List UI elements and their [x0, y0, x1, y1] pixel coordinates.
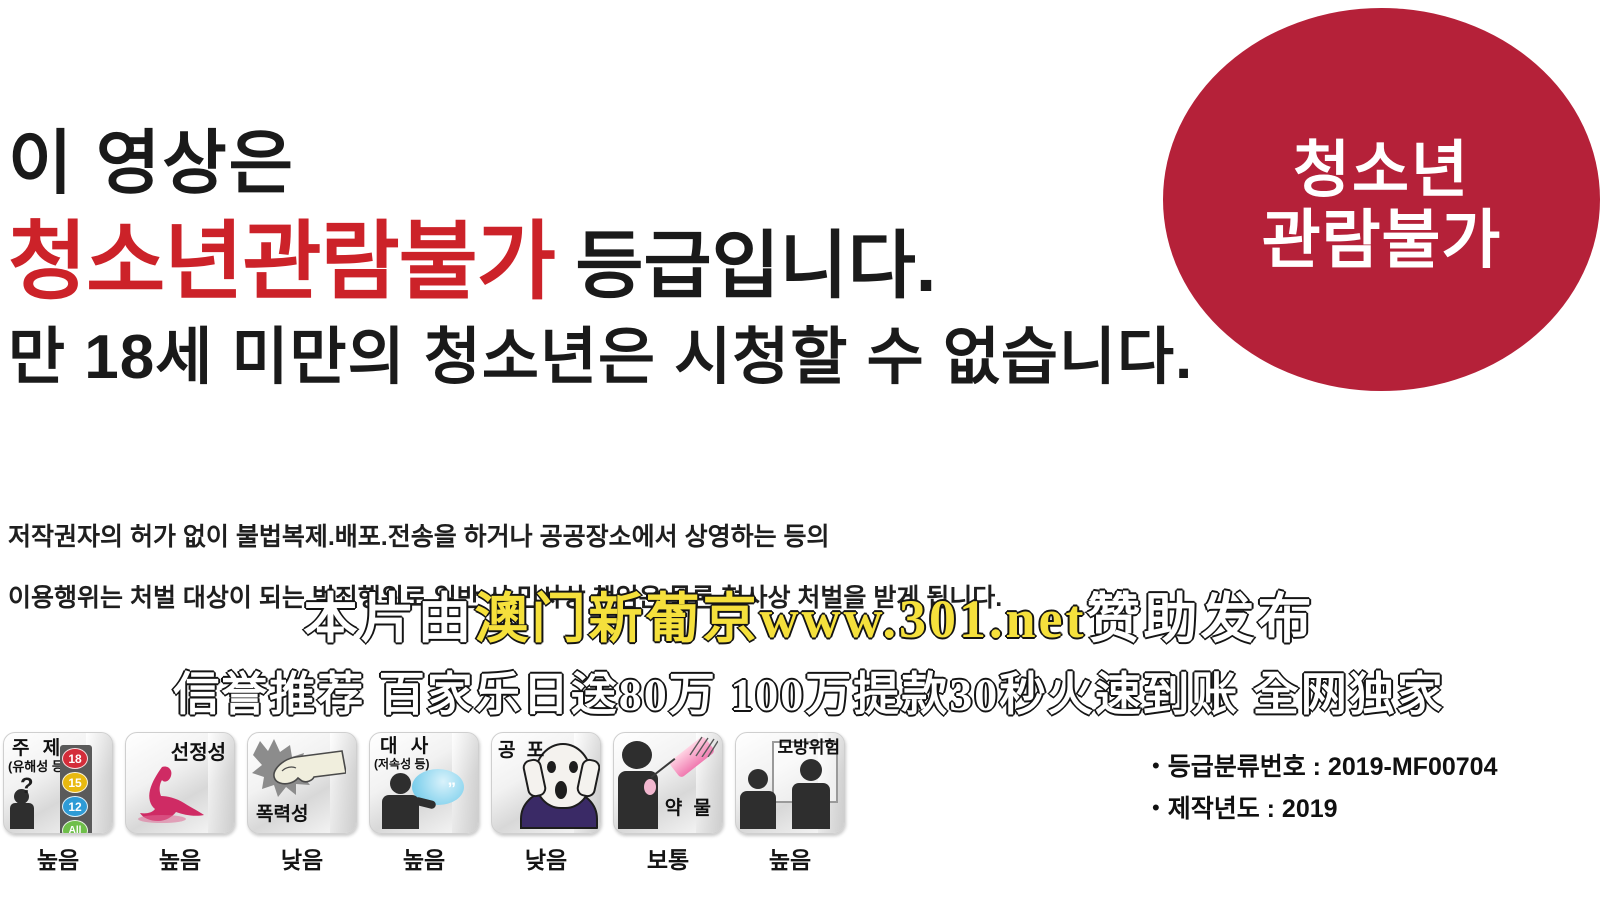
theme-level: 높음	[37, 841, 79, 875]
dialogue-title: 대 사	[380, 737, 432, 757]
scream-right-eye-icon	[569, 761, 578, 773]
drugs-injection-spot-icon	[644, 779, 656, 795]
drugs-figure-head-icon	[622, 741, 652, 769]
rating-icon-strip: 주 제 (유해성 등) ? 18 15 12 All 높음 선정성	[4, 732, 844, 875]
sexuality-silhouette-icon: 선정성	[125, 732, 235, 834]
imitation-viewer-head-icon	[748, 769, 768, 789]
rating-category-drugs: 약 물 보통	[614, 732, 722, 875]
scream-mouth-icon	[555, 781, 567, 799]
question-mark-icon: ?	[20, 773, 33, 799]
imitation-level: 높음	[769, 841, 811, 875]
violence-fist-icon: 폭력성	[247, 732, 357, 834]
rating-badge-line-2: 관람불가	[1262, 205, 1502, 277]
sexuality-level: 높음	[159, 841, 201, 875]
imitation-title: 모방위험	[777, 739, 840, 757]
rating-category-imitation: 모방위험 높음	[736, 732, 844, 875]
age-chip-15: 15	[62, 772, 88, 793]
classification-number-row: • 등급분류번호 : 2019-MF00704	[1152, 752, 1618, 782]
fineprint-line-1: 저작권자의 허가 없이 불법복제.배포.전송을 하거나 공공장소에서 상영하는 …	[8, 522, 1188, 553]
imitation-viewer-body-icon	[740, 791, 776, 829]
horror-level: 낮음	[525, 841, 567, 875]
theme-age-chips-icon: 주 제 (유해성 등) ? 18 15 12 All	[3, 732, 113, 834]
rating-category-dialogue: 대 사 (저속성 등) ” 높음	[370, 732, 478, 875]
headline-line-1: 이 영상은	[8, 128, 1158, 198]
imitation-risk-icon: 모방위험	[735, 732, 845, 834]
dialogue-speech-bubble-icon: 대 사 (저속성 등) ”	[369, 732, 479, 834]
age-chip-18: 18	[62, 748, 88, 769]
rating-category-theme: 주 제 (유해성 등) ? 18 15 12 All 높음	[4, 732, 112, 875]
rating-category-sexuality: 선정성 높음	[126, 732, 234, 875]
sexuality-figure-icon	[132, 763, 206, 825]
classification-number-text: 등급분류번호 : 2019-MF00704	[1168, 752, 1498, 782]
headline-block: 이 영상은 청소년관람불가 등급입니다. 만 18세 미만의 청소년은 시청할 …	[8, 128, 1158, 391]
age-chip-column: 18 15 12 All	[60, 745, 92, 834]
speech-bubble-quote-icon: ”	[448, 779, 457, 799]
production-year-row: • 제작년도 : 2019	[1152, 794, 1618, 824]
rating-badge-line-1: 청소년	[1293, 136, 1470, 205]
classification-bullet-1-icon: •	[1152, 752, 1160, 780]
theme-figure-body-icon	[10, 803, 34, 829]
imitation-screen-figure-body-icon	[792, 783, 830, 829]
classification-info-block: • 등급분류번호 : 2019-MF00704 • 제작년도 : 2019	[1152, 752, 1618, 824]
horror-title: 공 포	[498, 741, 547, 761]
headline-line-2-rest: 등급입니다.	[555, 224, 937, 307]
rating-category-violence: 폭력성 낮음	[248, 732, 356, 875]
age-chip-all: All	[62, 820, 88, 834]
syringe-motion-lines-icon	[688, 735, 718, 757]
headline-line-3: 만 18세 미만의 청소년은 시청할 수 없습니다.	[8, 325, 1158, 391]
headline-accent-text: 청소년관람불가	[8, 214, 555, 310]
rating-category-horror: 공 포 낮음	[492, 732, 600, 875]
fist-arm-icon	[262, 747, 346, 791]
headline-line-2: 청소년관람불가 등급입니다.	[8, 216, 1158, 309]
age-chip-12: 12	[62, 796, 88, 817]
dialogue-subtitle: (저속성 등)	[374, 758, 430, 770]
violence-title: 폭력성	[256, 805, 308, 825]
horror-scream-face-icon: 공 포	[491, 732, 601, 834]
drugs-syringe-icon: 약 물	[613, 732, 723, 834]
watermark-line-2: 信誉推荐 百家乐日送80万 100万提款30秒火速到账 全网独家	[0, 672, 1618, 718]
dialogue-level: 높음	[403, 841, 445, 875]
classification-bullet-2-icon: •	[1152, 794, 1160, 822]
fineprint-line-2: 이용행위는 처벌 대상이 되는 범죄행위로 일반 시 민사상 책임은 물론 형사…	[8, 583, 1188, 614]
copyright-fineprint: 저작권자의 허가 없이 불법복제.배포.전송을 하거나 공공장소에서 상영하는 …	[8, 522, 1188, 615]
violence-level: 낮음	[281, 841, 323, 875]
theme-title: 주 제	[12, 739, 64, 759]
drugs-level: 보통	[647, 841, 689, 875]
rating-badge-circle: 청소년 관람불가	[1163, 8, 1600, 391]
imitation-screen-figure-head-icon	[800, 759, 822, 781]
production-year-text: 제작년도 : 2019	[1168, 794, 1338, 824]
dialogue-figure-head-icon	[390, 773, 411, 794]
sexuality-title: 선정성	[171, 743, 226, 764]
drugs-title: 약 물	[665, 799, 714, 819]
rating-notice-screen: 청소년 관람불가 이 영상은 청소년관람불가 등급입니다. 만 18세 미만의 …	[0, 0, 1618, 902]
scream-left-eye-icon	[547, 761, 556, 773]
